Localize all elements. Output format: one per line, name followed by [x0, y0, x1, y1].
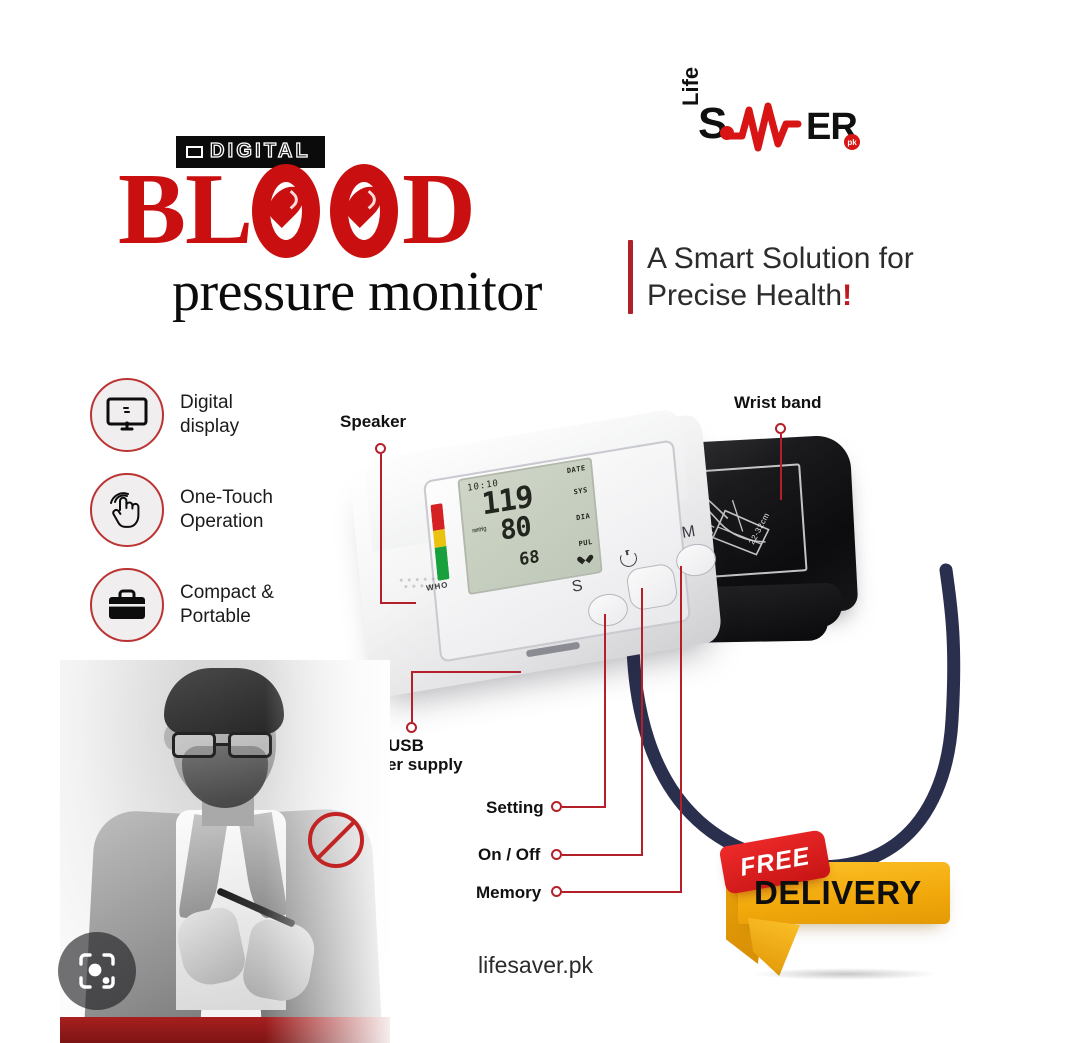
feature-label-line1: One-Touch [180, 486, 273, 510]
callout-leader-speaker-vertical [380, 454, 382, 603]
callout-dot-onoff [551, 849, 562, 860]
feature-icon-ring [90, 568, 164, 642]
badge-shadow [752, 968, 938, 980]
no-entry-icon [308, 812, 364, 868]
lcd-pul-label: PUL [578, 538, 593, 548]
callout-label-onoff: On / Off [478, 845, 540, 865]
title-letter-d: D [402, 160, 475, 260]
feature-icon-ring [90, 378, 164, 452]
lcd-dia-value: 80 [499, 514, 532, 545]
google-lens-icon [77, 951, 117, 991]
callout-leader-setting-vertical [604, 614, 606, 807]
free-delivery-badge[interactable]: FREE DELIVERY [706, 832, 958, 978]
callout-dot-wrist-band [775, 423, 786, 434]
who-band-red [430, 503, 444, 531]
feature-label: One-Touch Operation [180, 486, 273, 534]
callout-dot-setting [551, 801, 562, 812]
page-subtitle: pressure monitor [172, 260, 542, 324]
callout-leader-memory-horizontal [562, 891, 682, 893]
lcd-dia-label: DIA [576, 512, 591, 522]
feature-label-line2: Operation [180, 510, 273, 534]
feature-item-one-touch[interactable]: One-Touch Operation [90, 473, 273, 547]
feature-label-line1: Digital [180, 391, 239, 415]
callout-leader-onoff-horizontal [562, 854, 643, 856]
blood-pressure-monitor-device: WHO 10:10 DATE SYS DIA PUL 119 80 68 mmH… [352, 432, 724, 682]
brand-logo[interactable]: Life S ER pk [676, 100, 862, 158]
callout-leader-speaker-horizontal [380, 602, 416, 604]
tagline-accent-bar [628, 240, 633, 314]
lcd-date-label: DATE [567, 464, 586, 475]
feature-label-line2: display [180, 415, 239, 439]
callout-leader-setting-horizontal [562, 806, 606, 808]
callout-leader-usb-horizontal [411, 671, 521, 673]
feature-icon-ring [90, 473, 164, 547]
tagline-line-2-text: Precise Health [647, 279, 842, 312]
device-lcd-screen: 10:10 DATE SYS DIA PUL 119 80 68 mmHg [457, 457, 602, 595]
tagline-line-1: A Smart Solution for [647, 240, 914, 277]
advertisement-canvas: Life S ER pk DIGITAL BL D pressure monit… [0, 0, 1080, 1043]
monitor-icon [106, 397, 148, 433]
callout-label-wrist-band: Wrist band [734, 393, 822, 413]
callout-dot-memory [551, 886, 562, 897]
badge-delivery-text: DELIVERY [754, 874, 922, 912]
feature-label: Compact & Portable [180, 581, 274, 629]
title-letters-bl: BL [118, 160, 252, 260]
callout-leader-usb-vertical [411, 672, 413, 724]
callout-dot-speaker [375, 443, 386, 454]
callout-label-speaker: Speaker [340, 412, 406, 432]
google-lens-button[interactable] [58, 932, 136, 1010]
touch-hand-icon [106, 490, 148, 530]
feature-item-digital-display[interactable]: Digital display [90, 378, 239, 452]
callout-leader-onoff-vertical [641, 588, 643, 856]
page-title: BL D [118, 160, 475, 260]
feature-label-line1: Compact & [180, 581, 274, 605]
lcd-sys-label: SYS [573, 486, 588, 496]
logo-s-letter: S [698, 102, 727, 146]
title-blood-drops-oo [252, 160, 402, 260]
briefcase-icon [106, 588, 148, 622]
lcd-unit: mmHg [472, 525, 487, 534]
callout-leader-memory-vertical [680, 566, 682, 893]
tagline-exclamation: ! [842, 279, 852, 312]
feature-label-line2: Portable [180, 605, 274, 629]
callout-label-memory: Memory [476, 883, 541, 903]
logo-pk-badge: pk [844, 134, 860, 150]
feature-item-compact-portable[interactable]: Compact & Portable [90, 568, 274, 642]
lcd-pul-value: 68 [518, 549, 540, 569]
callout-label-usb: USB [388, 736, 424, 756]
heart-beat-icon [580, 552, 591, 563]
feature-label: Digital display [180, 391, 239, 439]
tagline: A Smart Solution for Precise Health! [628, 240, 914, 314]
memory-button-label: M [681, 523, 697, 543]
website-url[interactable]: lifesaver.pk [478, 952, 593, 979]
tagline-line-2: Precise Health! [647, 277, 914, 314]
callout-leader-wrist-band [780, 434, 782, 500]
callout-label-setting: Setting [486, 798, 544, 818]
